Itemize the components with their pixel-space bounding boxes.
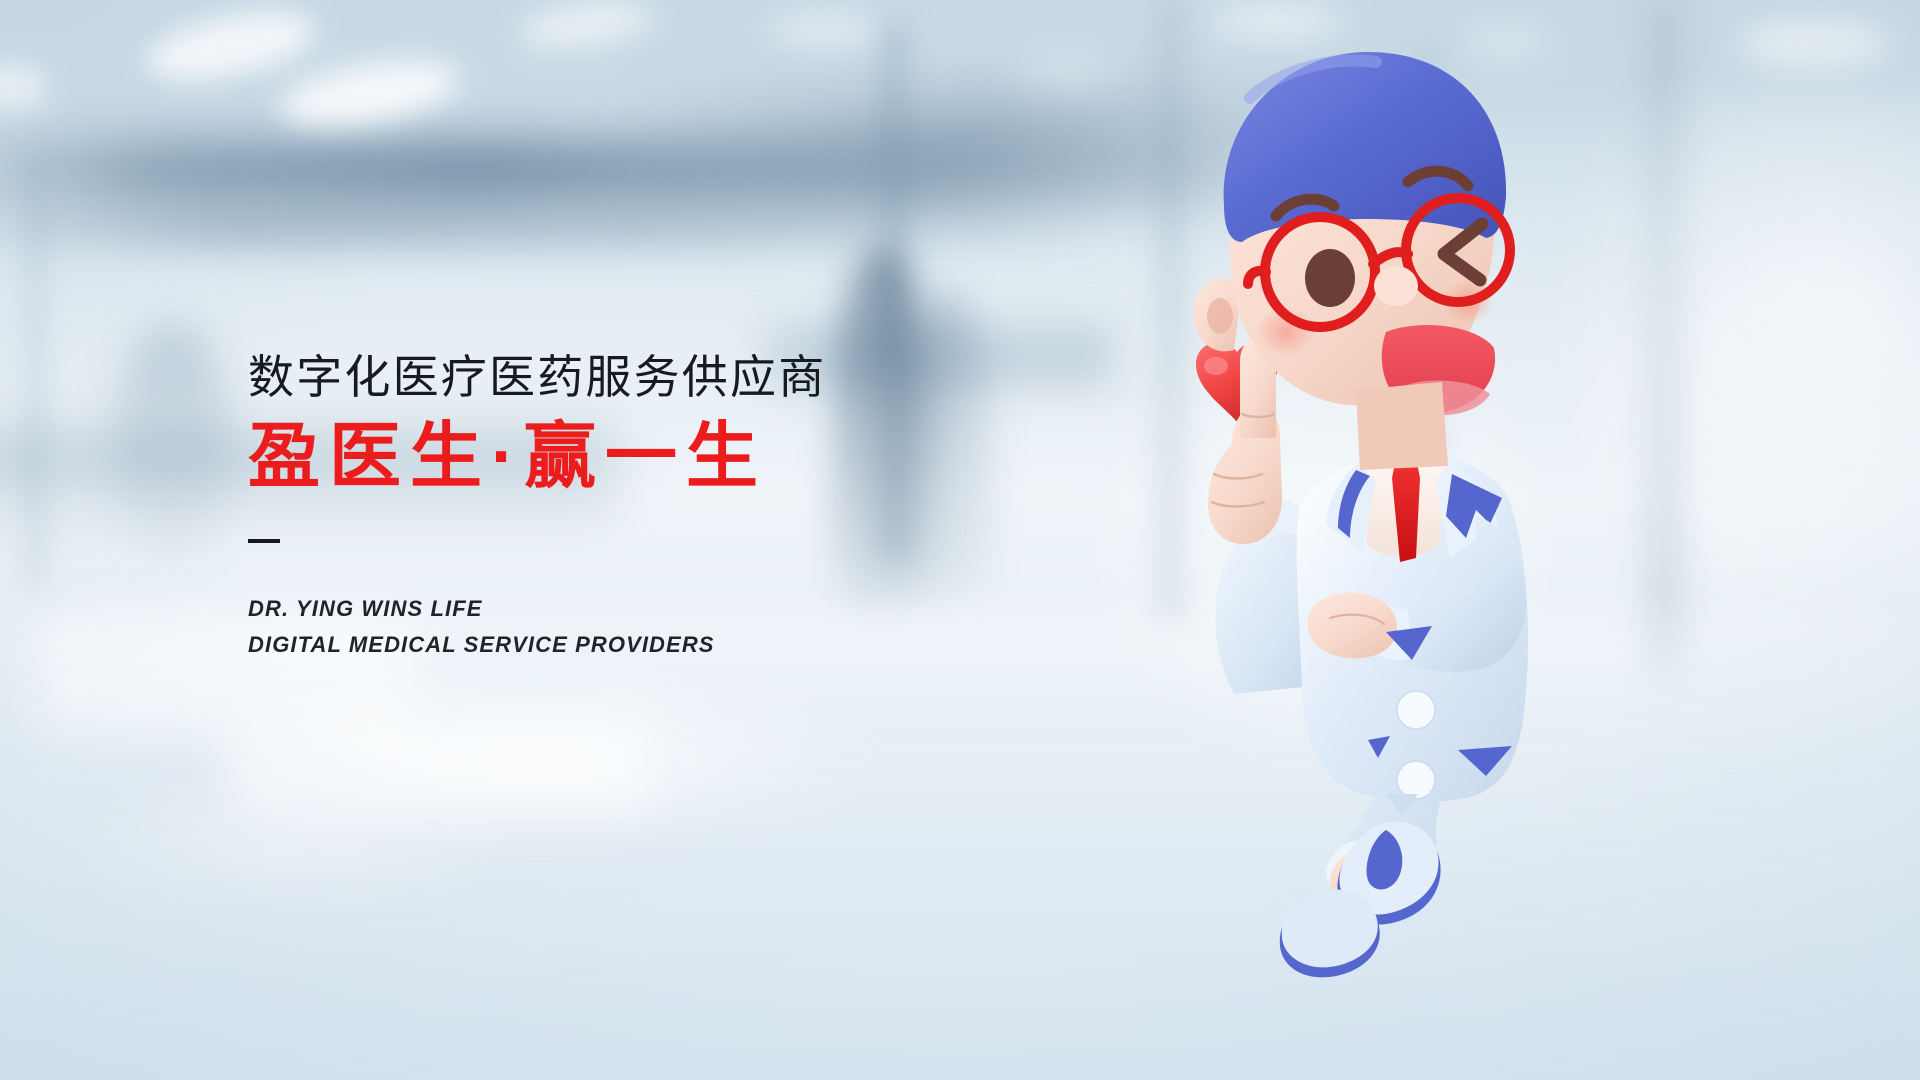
- hero-banner: 数字化医疗医药服务供应商 盈医生·赢一生 DR. YING WINS LIFE …: [0, 0, 1920, 1080]
- divider-rule: [248, 539, 280, 543]
- mascot-nose: [1374, 266, 1418, 306]
- page-slogan: 盈医生·赢一生: [248, 416, 1028, 500]
- mascot-lab-coat: [1297, 455, 1528, 816]
- hero-copy: 数字化医疗医药服务供应商 盈医生·赢一生 DR. YING WINS LIFE …: [248, 352, 1028, 662]
- english-subtitle: DR. YING WINS LIFE DIGITAL MEDICAL SERVI…: [248, 591, 1028, 662]
- eye-open: [1305, 249, 1355, 307]
- english-subtitle-line-1: DR. YING WINS LIFE: [248, 591, 1028, 627]
- mascot-shoes: [1280, 822, 1441, 978]
- doctor-mascot: [1190, 46, 1610, 1046]
- english-subtitle-line-2: DIGITAL MEDICAL SERVICE PROVIDERS: [248, 627, 1028, 663]
- page-headline: 数字化医疗医药服务供应商: [248, 352, 1028, 404]
